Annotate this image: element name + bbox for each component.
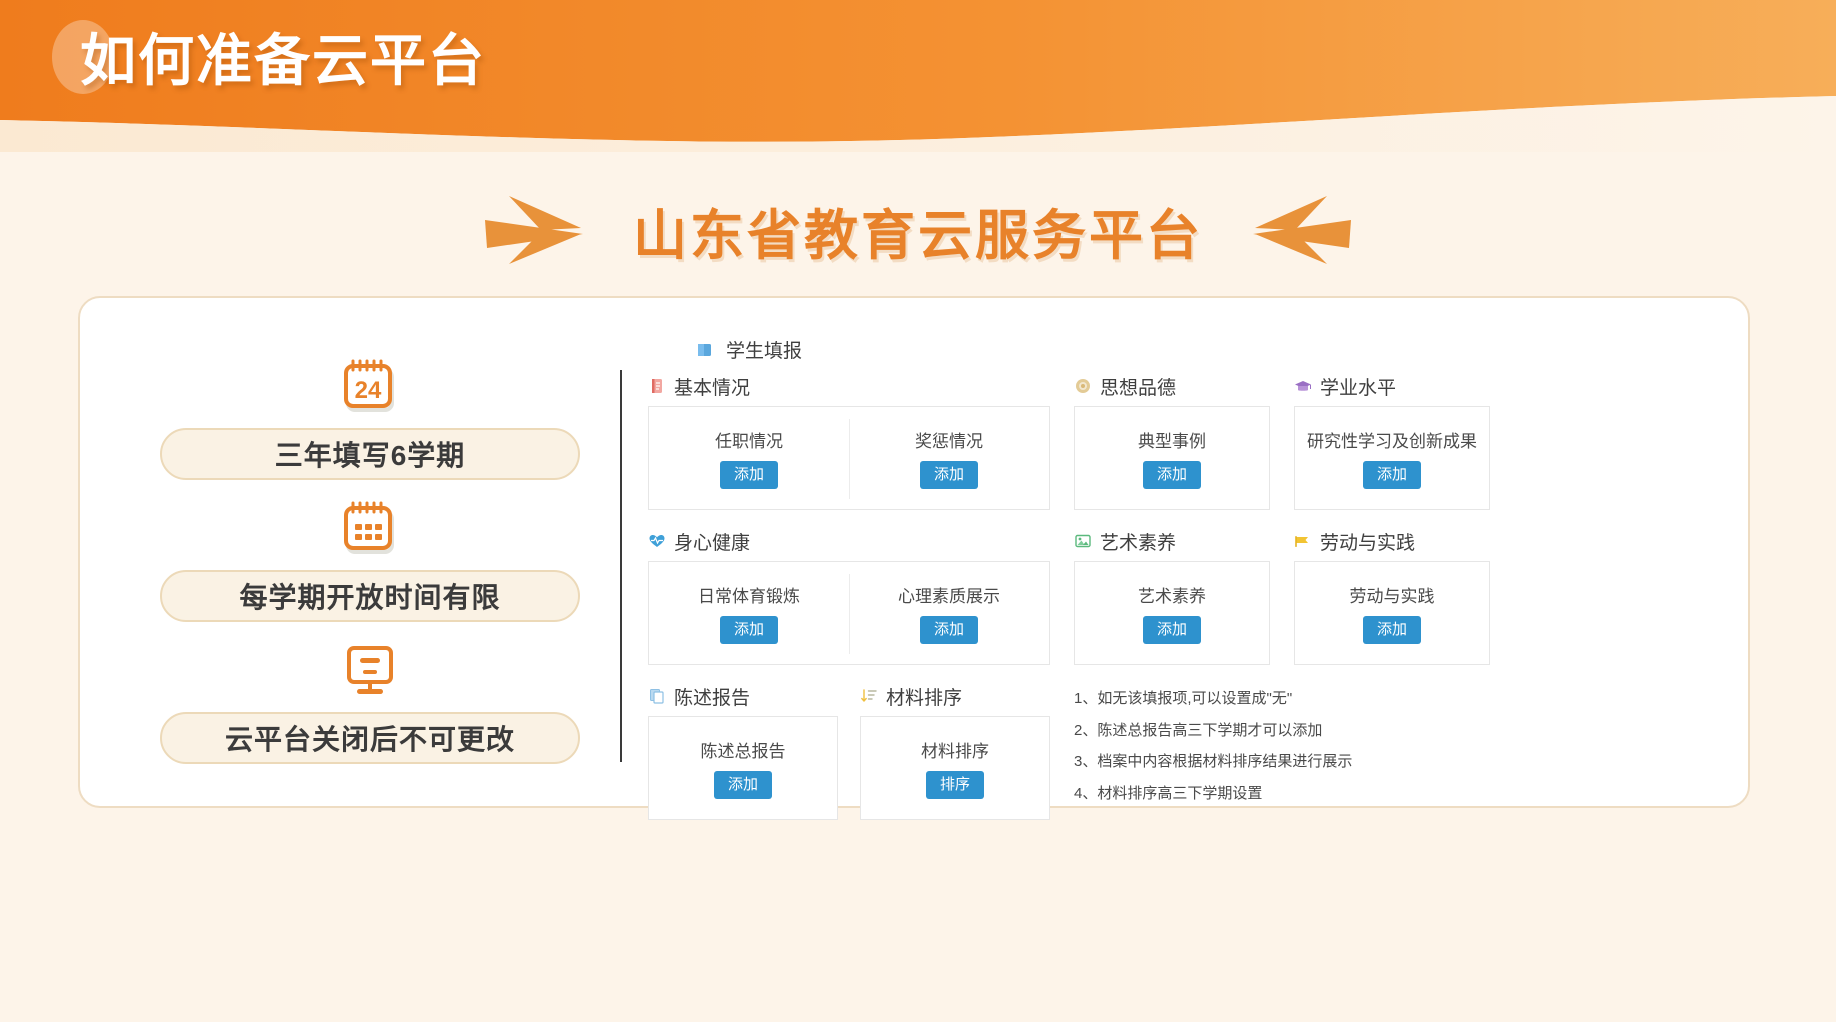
section-health: 身心健康 日常体育锻炼 添加 心理素质展示 添加	[648, 528, 1050, 665]
cell-label: 劳动与实践	[1350, 582, 1435, 607]
section-title: 思想品德	[1100, 373, 1176, 400]
section-panel: 材料排序 排序	[860, 716, 1050, 820]
blue-folder-icon	[696, 341, 714, 359]
red-document-icon	[648, 377, 666, 395]
breadcrumb[interactable]: 学生填报	[696, 336, 1728, 363]
add-button[interactable]: 添加	[920, 616, 978, 645]
note-item: 4、材料排序高三下学期设置	[1074, 786, 1494, 803]
form-cell: 材料排序 排序	[861, 717, 1049, 819]
notes-list: 1、如无该填报项,可以设置成"无" 2、陈述总报告高三下学期才可以添加 3、档案…	[1074, 683, 1494, 817]
form-cell: 日常体育锻炼 添加	[649, 562, 849, 664]
vertical-divider	[620, 370, 622, 762]
cell-label: 材料排序	[921, 737, 989, 762]
section-header: 身心健康	[648, 528, 1050, 554]
section-panel: 日常体育锻炼 添加 心理素质展示 添加	[648, 561, 1050, 665]
cell-label: 陈述总报告	[701, 737, 786, 762]
cell-label: 典型事例	[1138, 427, 1206, 452]
add-button[interactable]: 添加	[720, 616, 778, 645]
section-academic-level: 学业水平 研究性学习及创新成果 添加	[1294, 373, 1490, 510]
form-cell: 典型事例 添加	[1075, 407, 1269, 509]
cell-label: 奖惩情况	[915, 427, 983, 452]
note-item: 3、档案中内容根据材料排序结果进行展示	[1074, 754, 1494, 771]
add-button[interactable]: 添加	[920, 461, 978, 490]
section-panel: 劳动与实践 添加	[1294, 561, 1490, 665]
section-row-2: 身心健康 日常体育锻炼 添加 心理素质展示 添加	[648, 528, 1728, 665]
form-cell: 陈述总报告 添加	[649, 717, 837, 819]
section-header: 陈述报告	[648, 683, 838, 709]
right-arrow-decoration-icon	[1233, 184, 1353, 276]
form-cell: 任职情况 添加	[649, 407, 849, 509]
section-panel: 研究性学习及创新成果 添加	[1294, 406, 1490, 510]
left-info-pill: 云平台关闭后不可更改	[160, 712, 580, 764]
cell-label: 研究性学习及创新成果	[1307, 427, 1477, 452]
section-title: 材料排序	[886, 683, 962, 710]
section-title: 陈述报告	[674, 683, 750, 710]
note-item: 1、如无该填报项,可以设置成"无"	[1074, 691, 1494, 708]
left-info-pill: 三年填写6学期	[160, 428, 580, 480]
section-header: 思想品德	[1074, 373, 1270, 399]
form-cell: 奖惩情况 添加	[849, 407, 1049, 509]
section-statement-report: 陈述报告 陈述总报告 添加	[648, 683, 838, 820]
add-button[interactable]: 添加	[1143, 616, 1201, 645]
section-header: 学业水平	[1294, 373, 1490, 399]
banner-title: 如何准备云平台	[52, 16, 486, 97]
add-button[interactable]: 添加	[714, 771, 772, 800]
page-title: 山东省教育云服务平台	[633, 191, 1203, 270]
form-cell: 艺术素养 添加	[1075, 562, 1269, 664]
form-cell: 研究性学习及创新成果 添加	[1295, 407, 1489, 509]
section-header: 劳动与实践	[1294, 528, 1490, 554]
section-title: 艺术素养	[1100, 528, 1176, 555]
section-row-1: 基本情况 任职情况 添加 奖惩情况 添加	[648, 373, 1728, 510]
section-art: 艺术素养 艺术素养 添加	[1074, 528, 1270, 665]
breadcrumb-label: 学生填报	[726, 336, 802, 363]
add-button[interactable]: 添加	[1143, 461, 1201, 490]
sort-button[interactable]: 排序	[926, 771, 984, 800]
cell-label: 任职情况	[715, 427, 783, 452]
cell-label: 心理素质展示	[898, 582, 1000, 607]
header-banner: 如何准备云平台	[0, 0, 1836, 152]
section-panel: 任职情况 添加 奖惩情况 添加	[648, 406, 1050, 510]
calendar-grid-icon	[339, 498, 401, 560]
left-info-item: 24 三年填写6学期	[160, 356, 580, 480]
add-button[interactable]: 添加	[720, 461, 778, 490]
left-arrow-decoration-icon	[483, 184, 603, 276]
section-basic-info: 基本情况 任职情况 添加 奖惩情况 添加	[648, 373, 1050, 510]
page-title-row: 山东省教育云服务平台	[0, 184, 1836, 276]
gold-medal-icon	[1074, 377, 1092, 395]
svg-text:24: 24	[355, 377, 382, 404]
left-info-item: 云平台关闭后不可更改	[160, 640, 580, 764]
blue-heart-pulse-icon	[648, 532, 666, 550]
left-info-pill: 每学期开放时间有限	[160, 570, 580, 622]
section-title: 基本情况	[674, 373, 750, 400]
green-image-icon	[1074, 532, 1092, 550]
section-morality: 思想品德 典型事例 添加	[1074, 373, 1270, 510]
left-info-item: 每学期开放时间有限	[160, 498, 580, 622]
banner-title-group: 如何准备云平台	[52, 14, 486, 98]
section-header: 艺术素养	[1074, 528, 1270, 554]
form-cell: 劳动与实践 添加	[1295, 562, 1489, 664]
copy-document-icon	[648, 687, 666, 705]
add-button[interactable]: 添加	[1363, 461, 1421, 490]
purple-graduation-cap-icon	[1294, 377, 1312, 395]
sort-list-icon	[860, 687, 878, 705]
section-panel: 陈述总报告 添加	[648, 716, 838, 820]
main-content-card: 24 三年填写6学期	[78, 296, 1750, 808]
student-form-screen: 学生填报	[648, 318, 1728, 798]
section-material-sort: 材料排序 材料排序 排序	[860, 683, 1050, 820]
section-labor: 劳动与实践 劳动与实践 添加	[1294, 528, 1490, 665]
section-panel: 典型事例 添加	[1074, 406, 1270, 510]
section-row-3: 陈述报告 陈述总报告 添加	[648, 683, 1728, 820]
add-button[interactable]: 添加	[1363, 616, 1421, 645]
section-title: 劳动与实践	[1320, 528, 1415, 555]
yellow-flag-icon	[1294, 532, 1312, 550]
form-cell: 心理素质展示 添加	[849, 562, 1049, 664]
section-title: 身心健康	[674, 528, 750, 555]
section-title: 学业水平	[1320, 373, 1396, 400]
calendar-24-icon: 24	[339, 356, 401, 418]
section-panel: 艺术素养 添加	[1074, 561, 1270, 665]
left-info-column: 24 三年填写6学期	[154, 356, 586, 782]
monitor-icon	[339, 640, 401, 702]
cell-label: 日常体育锻炼	[698, 582, 800, 607]
cell-label: 艺术素养	[1138, 582, 1206, 607]
note-item: 2、陈述总报告高三下学期才可以添加	[1074, 723, 1494, 740]
section-header: 基本情况	[648, 373, 1050, 399]
section-header: 材料排序	[860, 683, 1050, 709]
